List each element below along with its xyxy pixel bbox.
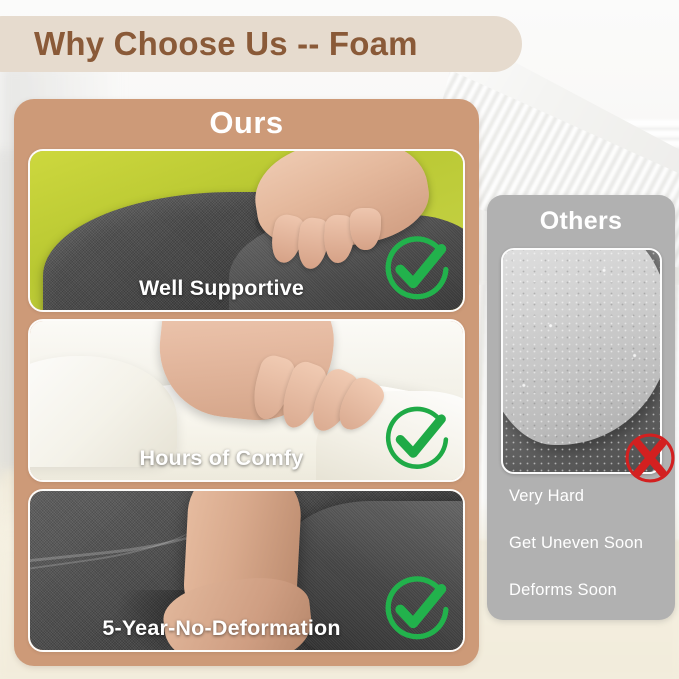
ours-card-five-year-no-deformation[interactable]: 5-Year-No-Deformation xyxy=(28,489,465,652)
ours-title: Ours xyxy=(14,105,479,141)
others-list-item: Very Hard xyxy=(487,487,675,506)
ours-card-hours-of-comfy[interactable]: Hours of Comfy xyxy=(28,319,465,482)
others-drawback-list: Very Hard Get Uneven Soon Deforms Soon xyxy=(487,487,675,628)
ours-panel: Ours Well Supportive xyxy=(14,99,479,666)
green-check-icon xyxy=(379,570,455,646)
green-check-icon xyxy=(379,230,455,306)
red-x-icon xyxy=(619,427,679,489)
header-banner: Why Choose Us -- Foam xyxy=(0,16,522,72)
infographic-canvas: Why Choose Us -- Foam Ours Well Supporti… xyxy=(0,0,679,679)
green-check-icon xyxy=(379,400,455,476)
others-title: Others xyxy=(487,207,675,236)
others-list-item: Deforms Soon xyxy=(487,581,675,600)
others-list-item: Get Uneven Soon xyxy=(487,534,675,553)
page-title: Why Choose Us -- Foam xyxy=(34,25,418,63)
ours-card-well-supportive[interactable]: Well Supportive xyxy=(28,149,465,312)
others-panel: Others Very Hard Get Uneven Soon Deforms… xyxy=(487,195,675,620)
ours-card-list: Well Supportive Hours of Comfy xyxy=(28,149,465,652)
